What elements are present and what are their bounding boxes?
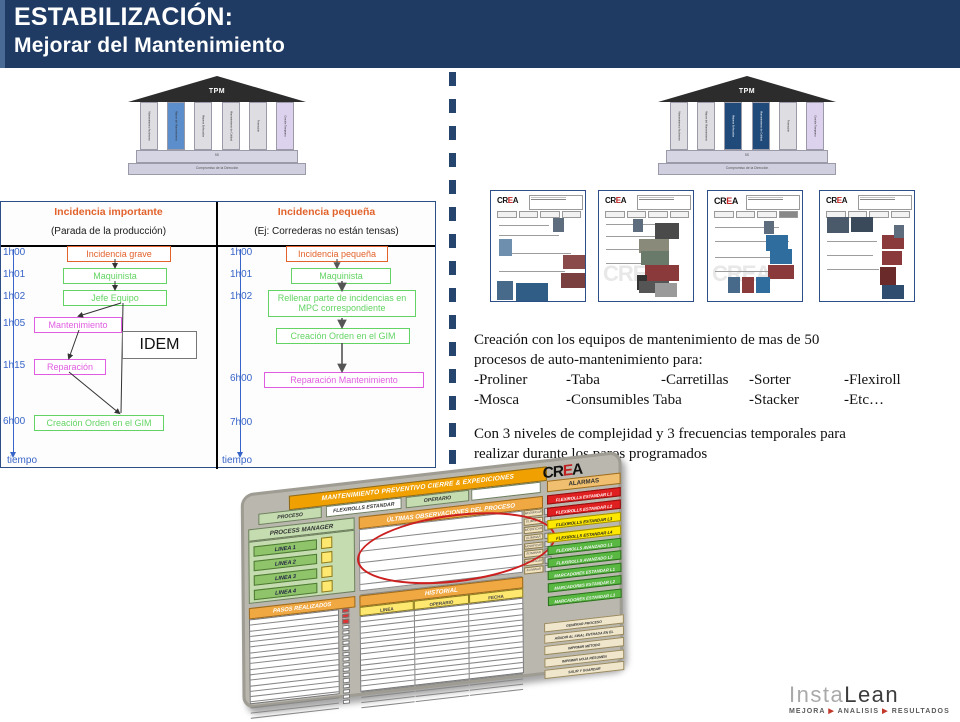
temple-pillar: Formación (779, 102, 797, 150)
doc-header-box (529, 195, 583, 210)
time-tick: 1h02 (230, 291, 252, 302)
temple-pillar: Gestión Temprana (806, 102, 824, 150)
temple-pillar-label: Mejoras Enfocadas (732, 115, 735, 137)
equipment-item: -Proliner (474, 370, 566, 390)
crea-label: CREA (605, 196, 626, 205)
linea-checkbox[interactable] (321, 551, 332, 564)
equipment-item: -Mosca (474, 390, 566, 410)
temple-pillar: Mantenimiento Autónomo (140, 102, 158, 150)
temple-pillars: Mantenimiento Autónomo Mejora del Manten… (670, 102, 824, 150)
description-line: Creación con los equipos de mantenimient… (474, 330, 944, 350)
temple-pillar: Mantenimiento de Calidad (222, 102, 240, 150)
time-axis-label: tiempo (222, 455, 252, 466)
crea-panel-body: MANTENIMIENTO PREVENTIVO CIERRE & EXPEDI… (241, 451, 624, 710)
temple-pillar: Mejora del Mantenimiento (697, 102, 715, 150)
tagline-item: ANALISIS (838, 708, 879, 715)
doc-tab-row (714, 211, 798, 218)
page-header: ESTABILIZACIÓN: Mejorar del Mantenimient… (0, 0, 960, 68)
logo-word-part2: Lean (844, 682, 899, 707)
temple-pillar-label: Mantenimiento Autónomo (678, 111, 681, 140)
temple-pillar-label: Formación (786, 120, 789, 132)
flow-column-title: Incidencia pequeña (218, 206, 435, 218)
logo-tagline: MEJORA ▶ ANALISIS ▶ RESULTADOS (789, 707, 949, 715)
doc-header-box (858, 195, 912, 210)
linea-button[interactable]: LINEA 4 (254, 582, 318, 600)
flow-node: Maquinista (63, 268, 167, 284)
time-tick: 1h00 (3, 247, 25, 258)
obs-action[interactable]: ELIMINAR (524, 565, 544, 574)
crea-doc-thumbnail-4[interactable]: CREA (819, 190, 915, 302)
doc-tab-row (497, 211, 581, 218)
equipment-item: -Taba (566, 370, 661, 390)
linea-checkbox[interactable] (321, 565, 332, 578)
temple-pillar-label: Mantenimiento Autónomo (148, 111, 151, 140)
temple-pillar: Gestión Temprana (276, 102, 294, 150)
crea-label: CREA (497, 196, 518, 205)
time-tick: 1h02 (3, 291, 25, 302)
temple-base-upper: 5S (666, 150, 828, 163)
linea-checkbox[interactable] (321, 580, 332, 593)
temple-pillar-label: Gestión Temprana (813, 115, 816, 136)
equipment-item: -Sorter (749, 370, 844, 390)
time-tick: 1h01 (230, 269, 252, 280)
temple-pillar-highlight: Mejoras Enfocadas (724, 102, 742, 150)
flow-node: Incidencia pequeña (286, 246, 388, 262)
pasos-realizados-table[interactable] (249, 609, 340, 704)
description-text-block: Creación con los equipos de mantenimient… (474, 330, 944, 464)
flow-column-subtitle: (Ej: Correderas no están tensas) (218, 226, 435, 237)
equipment-item: -Stacker (749, 390, 844, 410)
linea-checkbox[interactable] (321, 536, 332, 549)
tagline-separator-icon: ▶ (828, 708, 834, 715)
temple-base-upper: 5S (136, 150, 298, 163)
time-tick: 1h00 (230, 247, 252, 258)
flow-column-title: Incidencia importante (1, 206, 216, 218)
flow-column-subtitle: (Parada de la producción) (1, 226, 216, 237)
flow-node: Maquinista (291, 268, 391, 284)
header-accent-bar (0, 0, 5, 68)
temple-base-lower: Compromiso de la Dirección (658, 163, 836, 175)
temple-pillar-label: Mejora del Mantenimiento (705, 111, 708, 141)
crea-action-buttons[interactable]: GENERAR PROCESO AÑADIR AL FINAL ENTRADA … (544, 614, 624, 681)
tagline-item: RESULTADOS (892, 708, 950, 715)
equipment-item: -Etc… (844, 390, 884, 410)
crea-doc-thumbnail-3[interactable]: CREA CREA (707, 190, 803, 302)
equipment-item: -Flexiroll (844, 370, 901, 390)
logo-word-part1: Insta (789, 682, 844, 707)
logo-wordmark: InstaLean (789, 684, 949, 706)
temple-base-lower-label: Compromiso de la Dirección (659, 166, 835, 170)
instalean-logo: InstaLean MEJORA ▶ ANALISIS ▶ RESULTADOS (789, 684, 949, 715)
process-manager-body: LINEA 1 LINEA 2 LINEA 3 LINEA 4 (248, 530, 355, 604)
idem-callout: IDEM (122, 331, 197, 359)
time-tick: 1h01 (3, 269, 25, 280)
temple-base-lower-label: Compromiso de la Dirección (129, 166, 305, 170)
doc-tab-row (605, 211, 689, 218)
temple-pillar-label: Mantenimiento de Calidad (229, 111, 232, 141)
crea-doc-thumbnail-2[interactable]: CREA CREA (598, 190, 694, 302)
flow-node: Rellenar parte de incidencias en MPC cor… (268, 290, 416, 317)
flow-node: Creación Orden en el GIM (34, 415, 164, 431)
time-tick: 7h00 (230, 417, 252, 428)
temple-pillar-highlight: Mantenimiento de Calidad (752, 102, 770, 150)
temple-pillars: Mantenimiento Autónomo Mejora del Manten… (140, 102, 294, 150)
tagline-separator-icon: ▶ (882, 708, 888, 715)
temple-pillar-label: Mejoras Enfocadas (202, 115, 205, 137)
vertical-dashed-divider (449, 72, 456, 490)
temple-pillar-label: Mejora del Mantenimiento (175, 111, 178, 141)
page-subtitle: Mejorar del Mantenimiento (14, 34, 285, 58)
alarmas-list[interactable]: FLEXIROLLS ESTANDAR L1 FLEXIROLLS ESTAND… (547, 487, 622, 609)
crea-label: CREA (714, 196, 738, 206)
flow-node: Mantenimiento (34, 317, 122, 333)
tpm-temple-left: TPM Mantenimiento Autónomo Mejora del Ma… (128, 76, 306, 176)
doc-header-box (637, 195, 691, 210)
flow-column-right: tiempo 1h00 1h01 1h02 6h00 7h00 Incidenc… (218, 247, 435, 469)
temple-pillar-label: Formación (256, 120, 259, 132)
time-tick: 1h05 (3, 318, 25, 329)
temple-pillar: Mejoras Enfocadas (194, 102, 212, 150)
description-line: procesos de auto-mantenimiento para: (474, 350, 944, 370)
description-line: Con 3 niveles de complejidad y 3 frecuen… (474, 424, 944, 444)
temple-pillar-label: Gestión Temprana (283, 115, 286, 136)
crea-label: CREA (826, 196, 847, 205)
time-tick: 6h00 (3, 416, 25, 427)
tagline-item: MEJORA (789, 708, 825, 715)
flow-node: Reparación Mantenimiento (264, 372, 424, 388)
page-title: ESTABILIZACIÓN: (14, 3, 233, 32)
temple-roof-label: TPM (658, 88, 836, 95)
flow-table-header-left: Incidencia importante (Parada de la prod… (1, 202, 218, 247)
flow-node: Creación Orden en el GIM (276, 328, 410, 344)
doc-header-box (746, 195, 800, 210)
equipment-item: -Carretillas (661, 370, 749, 390)
crea-application-screenshot[interactable]: MANTENIMIENTO PREVENTIVO CIERRE & EXPEDI… (246, 476, 666, 720)
pasos-checkbox-column[interactable] (340, 608, 351, 694)
flow-node: Reparación (34, 359, 106, 375)
temple-pillar: Formación (249, 102, 267, 150)
flow-node: Incidencia grave (67, 246, 171, 262)
equipment-list-row-2: -Mosca -Consumibles Taba -Stacker -Etc… (474, 390, 944, 410)
equipment-item: -Consumibles Taba (566, 390, 749, 410)
flow-table-header-right: Incidencia pequeña (Ej: Correderas no es… (218, 202, 435, 247)
temple-base-upper-label: 5S (137, 153, 297, 157)
equipment-list-row-1: -Proliner -Taba -Carretillas -Sorter -Fl… (474, 370, 944, 390)
temple-pillar-highlight: Mejora del Mantenimiento (167, 102, 185, 150)
time-axis-label: tiempo (7, 455, 37, 466)
time-tick: 6h00 (230, 373, 252, 384)
tpm-temple-right: TPM Mantenimiento Autónomo Mejora del Ma… (658, 76, 836, 176)
flow-node: Jefe Equipo (63, 290, 167, 306)
temple-roof-label: TPM (128, 88, 306, 95)
temple-base-upper-label: 5S (667, 153, 827, 157)
temple-pillar: Mantenimiento Autónomo (670, 102, 688, 150)
incident-flow-table: Incidencia importante (Parada de la prod… (0, 201, 436, 468)
crea-doc-thumbnail-1[interactable]: CREA (490, 190, 586, 302)
temple-pillar-label: Mantenimiento de Calidad (759, 111, 762, 141)
temple-base-lower: Compromiso de la Dirección (128, 163, 306, 175)
time-tick: 1h15 (3, 360, 25, 371)
